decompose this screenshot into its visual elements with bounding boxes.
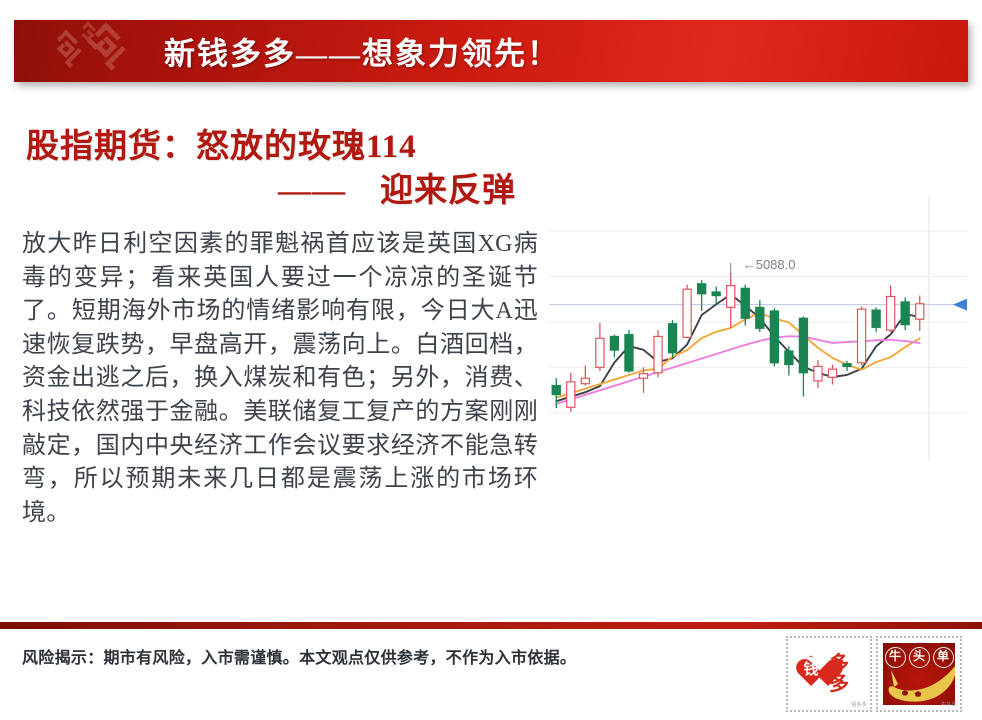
chinese-knot-pattern-icon xyxy=(32,22,148,80)
chart-canvas: ←5088.0 xyxy=(545,196,973,462)
headline-line-2: —— 迎来反弹 xyxy=(26,170,538,214)
stamp-corner-mark: 牛头单 xyxy=(941,701,957,708)
headline-line-1: 股指期货：怒放的玫瑰114 xyxy=(26,126,538,170)
header-banner: 新钱多多——想象力领先！ xyxy=(14,20,968,82)
stamp-corner-mark: 钱多多 xyxy=(851,701,867,708)
heart-top-mark: ▪▪ xyxy=(806,655,816,660)
heart-char: 钱 xyxy=(794,663,828,678)
candlestick-chart[interactable]: ←5088.0 xyxy=(545,196,973,462)
slide-root: 新钱多多——想象力领先！ 股指期货：怒放的玫瑰114 —— 迎来反弹 放大昨日利… xyxy=(0,0,982,720)
article-body: 放大昨日利空因素的罪魁祸首应该是英国XG病毒的变异；看来英国人要过一个凉凉的圣诞… xyxy=(22,228,538,530)
page-title: 股指期货：怒放的玫瑰114 —— 迎来反弹 xyxy=(26,126,538,214)
heart-icon: ▪▪ 钱 xyxy=(794,658,828,690)
risk-disclaimer: 风险揭示：期市有风险，入市需谨慎。本文观点仅供参考，不作为入市依据。 xyxy=(22,644,662,668)
footer-logos: ▪▪ 钱 多多 钱多多 牛 头 单 牛 xyxy=(786,636,962,712)
footer-divider xyxy=(0,622,982,629)
svg-text:←5088.0: ←5088.0 xyxy=(743,257,796,272)
banner-title: 新钱多多——想象力领先！ xyxy=(164,29,560,74)
bull-head-icon xyxy=(885,664,955,704)
qianduoduo-stamp: ▪▪ 钱 多多 钱多多 xyxy=(786,636,872,712)
niutoudan-stamp: 牛 头 单 牛头单 xyxy=(876,636,962,712)
